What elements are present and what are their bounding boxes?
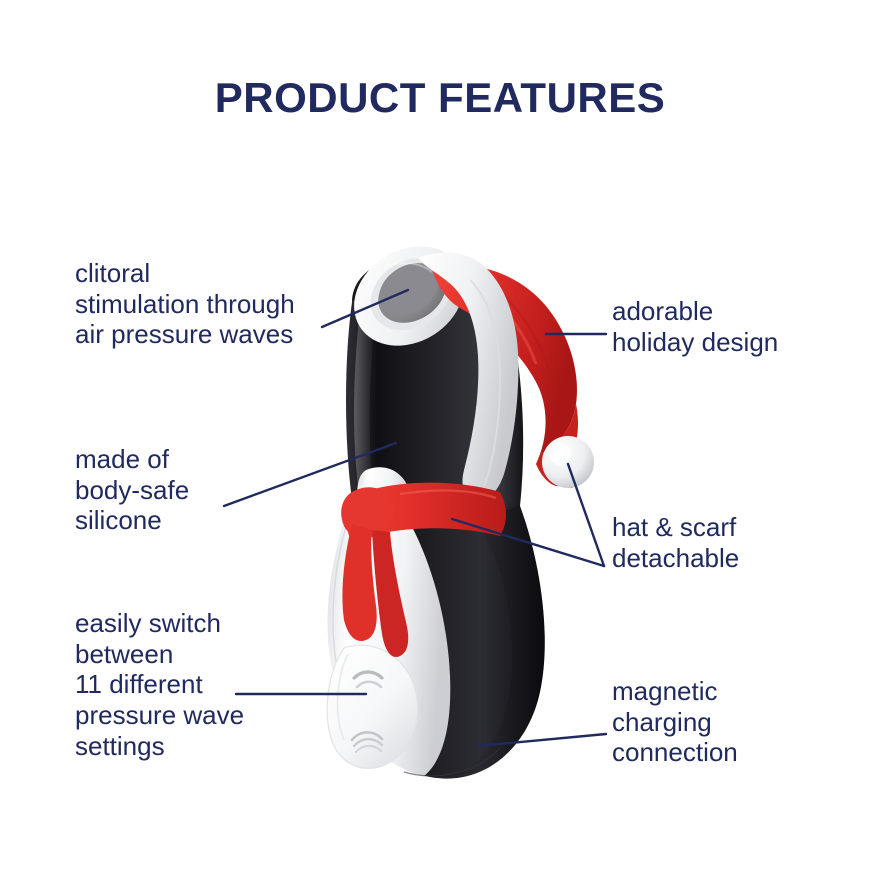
infographic-canvas: PRODUCT FEATURES: [0, 0, 880, 880]
callout-holiday-design: adorable holiday design: [612, 296, 862, 357]
callout-clitoral-stimulation: clitoral stimulation through air pressur…: [75, 258, 335, 350]
hat-pompom: [542, 436, 594, 488]
callout-magnetic-charging: magnetic charging connection: [612, 676, 862, 768]
callout-hat-scarf-detachable: hat & scarf detachable: [612, 512, 862, 573]
callout-pressure-wave-settings: easily switch between 11 different press…: [75, 608, 305, 761]
callout-body-safe-silicone: made of body-safe silicone: [75, 444, 295, 536]
